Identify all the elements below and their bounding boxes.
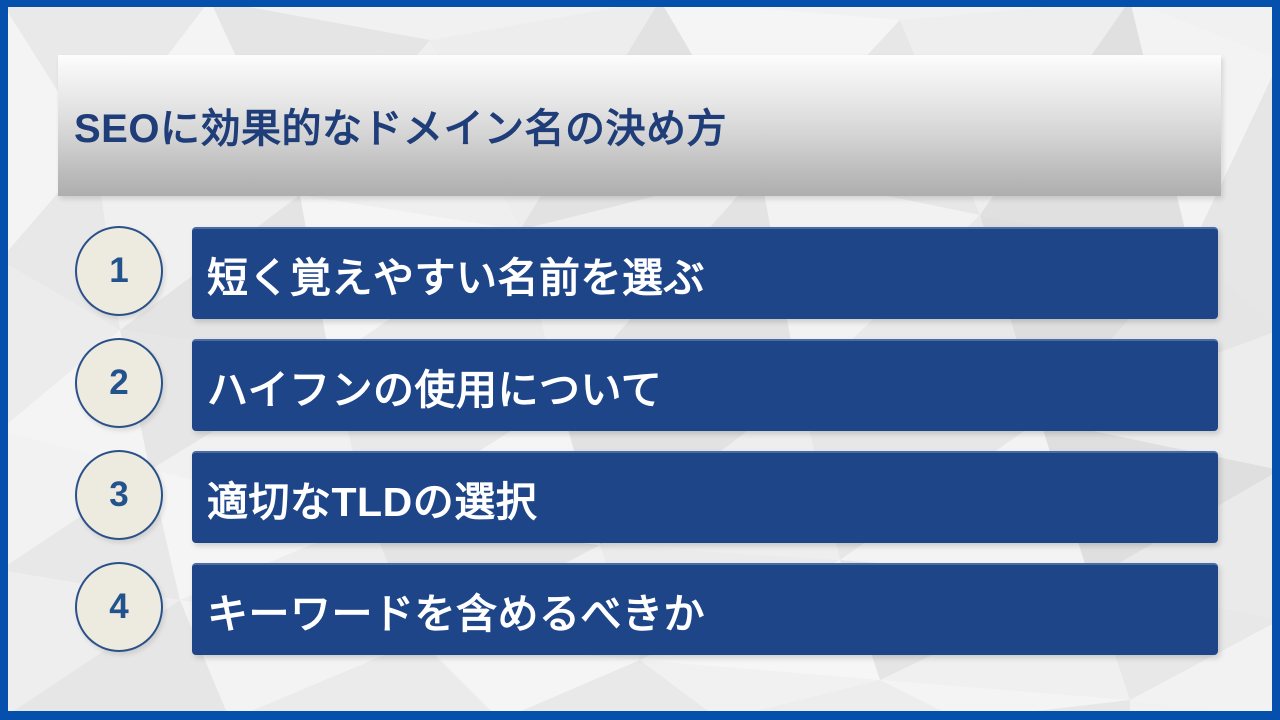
item-number: 1 xyxy=(109,253,128,288)
frame-border-bottom xyxy=(0,711,1280,720)
item-number: 2 xyxy=(109,365,128,400)
slide-canvas: SEOに効果的なドメイン名の決め方 1 短く覚えやすい名前を選ぶ 2 ハイフンの… xyxy=(0,0,1280,720)
item-number: 4 xyxy=(109,589,128,624)
title-banner: SEOに効果的なドメイン名の決め方 xyxy=(58,55,1221,196)
item-number-circle: 3 xyxy=(75,450,163,540)
item-label: ハイフンの使用について xyxy=(192,356,662,416)
item-number-circle: 4 xyxy=(75,562,163,652)
frame-border-left xyxy=(0,0,8,720)
frame-border-top xyxy=(0,0,1280,7)
item-label: 短く覚えやすい名前を選ぶ xyxy=(192,244,705,304)
list-item: 1 短く覚えやすい名前を選ぶ xyxy=(58,227,1221,319)
frame-border-right xyxy=(1272,0,1280,720)
page-title: SEOに効果的なドメイン名の決め方 xyxy=(74,95,727,153)
item-bar: ハイフンの使用について xyxy=(192,339,1218,431)
item-bar: 適切なTLDの選択 xyxy=(192,451,1218,543)
item-label: キーワードを含めるべきか xyxy=(192,580,705,640)
list-item: 2 ハイフンの使用について xyxy=(58,339,1221,431)
item-number-circle: 2 xyxy=(75,338,163,428)
item-number: 3 xyxy=(109,477,128,512)
list-item: 4 キーワードを含めるべきか xyxy=(58,563,1221,655)
item-label: 適切なTLDの選択 xyxy=(192,468,537,528)
item-bar: キーワードを含めるべきか xyxy=(192,563,1218,655)
item-bar: 短く覚えやすい名前を選ぶ xyxy=(192,227,1218,319)
list-item: 3 適切なTLDの選択 xyxy=(58,451,1221,543)
item-number-circle: 1 xyxy=(75,226,163,316)
